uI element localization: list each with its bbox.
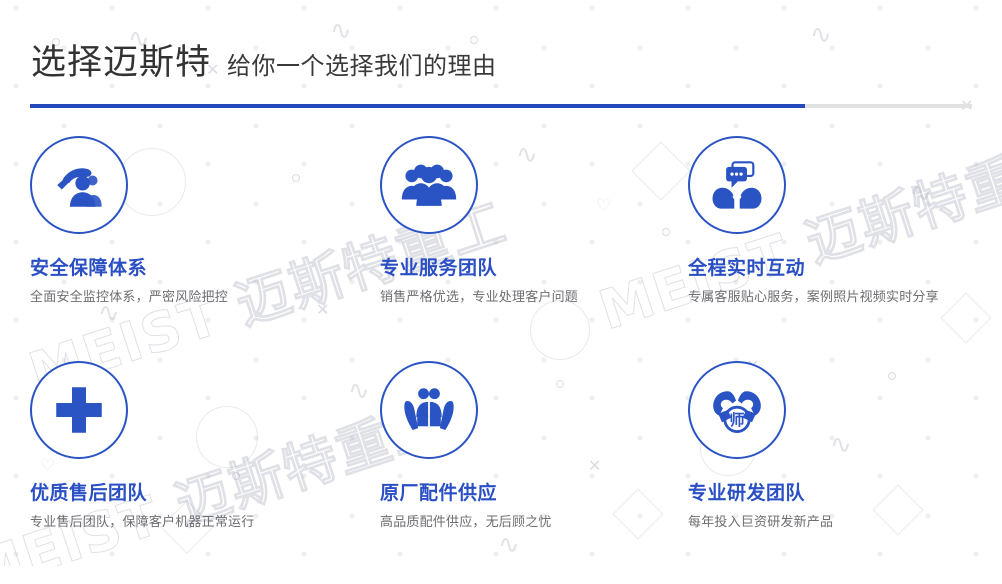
feature-description: 每年投入巨资研发新产品 <box>688 513 960 533</box>
feature-item-aftersales[interactable]: 优质售后团队 专业售后团队，保障客户机器正常运行 <box>0 359 350 584</box>
people-group-icon <box>380 136 478 234</box>
feature-item-realtime-interaction[interactable]: 全程实时互动 专属客服贴心服务，案例照片视频实时分享 <box>675 134 1002 359</box>
feature-item-service-team[interactable]: 专业服务团队 销售严格优选，专业处理客户问题 <box>350 134 675 359</box>
watermark-squiggle: ∿ <box>810 20 832 50</box>
header-divider-accent <box>30 104 805 108</box>
feature-description: 专属客服贴心服务，案例照片视频实时分享 <box>688 288 960 308</box>
feature-grid: 安全保障体系 全面安全监控体系，严密风险把控 专业服务团队 <box>0 134 1002 584</box>
feature-item-parts-supply[interactable]: 原厂配件供应 高品质配件供应，无后顾之忧 <box>350 359 675 584</box>
page-title-subtitle: 给你一个选择我们的理由 <box>227 46 497 81</box>
feature-title: 原厂配件供应 <box>380 483 675 504</box>
feature-description: 销售严格优选，专业处理客户问题 <box>380 288 652 308</box>
feature-description: 高品质配件供应，无后顾之忧 <box>380 513 652 533</box>
page-title-main: 选择迈斯特 <box>31 34 211 85</box>
feature-item-rnd-team[interactable]: 师 专业研发团队 每年投入巨资研发新产品 <box>675 359 1002 584</box>
feature-title: 全程实时互动 <box>688 258 1002 279</box>
feature-description: 全面安全监控体系，严密风险把控 <box>30 288 302 308</box>
hand-protect-person-icon <box>30 136 128 234</box>
flexing-arms-master-badge-icon: 师 <box>688 361 786 459</box>
page-title: 选择迈斯特 给你一个选择我们的理由 <box>31 34 497 85</box>
medical-cross-icon <box>30 361 128 459</box>
feature-description: 专业售后团队，保障客户机器正常运行 <box>30 513 302 533</box>
feature-title: 优质售后团队 <box>30 483 350 504</box>
master-badge-char: 师 <box>729 411 744 429</box>
header-divider <box>30 104 972 108</box>
feature-title: 安全保障体系 <box>30 258 350 279</box>
two-heads-chat-bubble-icon <box>688 136 786 234</box>
feature-title: 专业研发团队 <box>688 483 1002 504</box>
feature-item-safety[interactable]: 安全保障体系 全面安全监控体系，严密风险把控 <box>0 134 350 359</box>
hands-cradling-people-icon <box>380 361 478 459</box>
feature-title: 专业服务团队 <box>380 258 675 279</box>
